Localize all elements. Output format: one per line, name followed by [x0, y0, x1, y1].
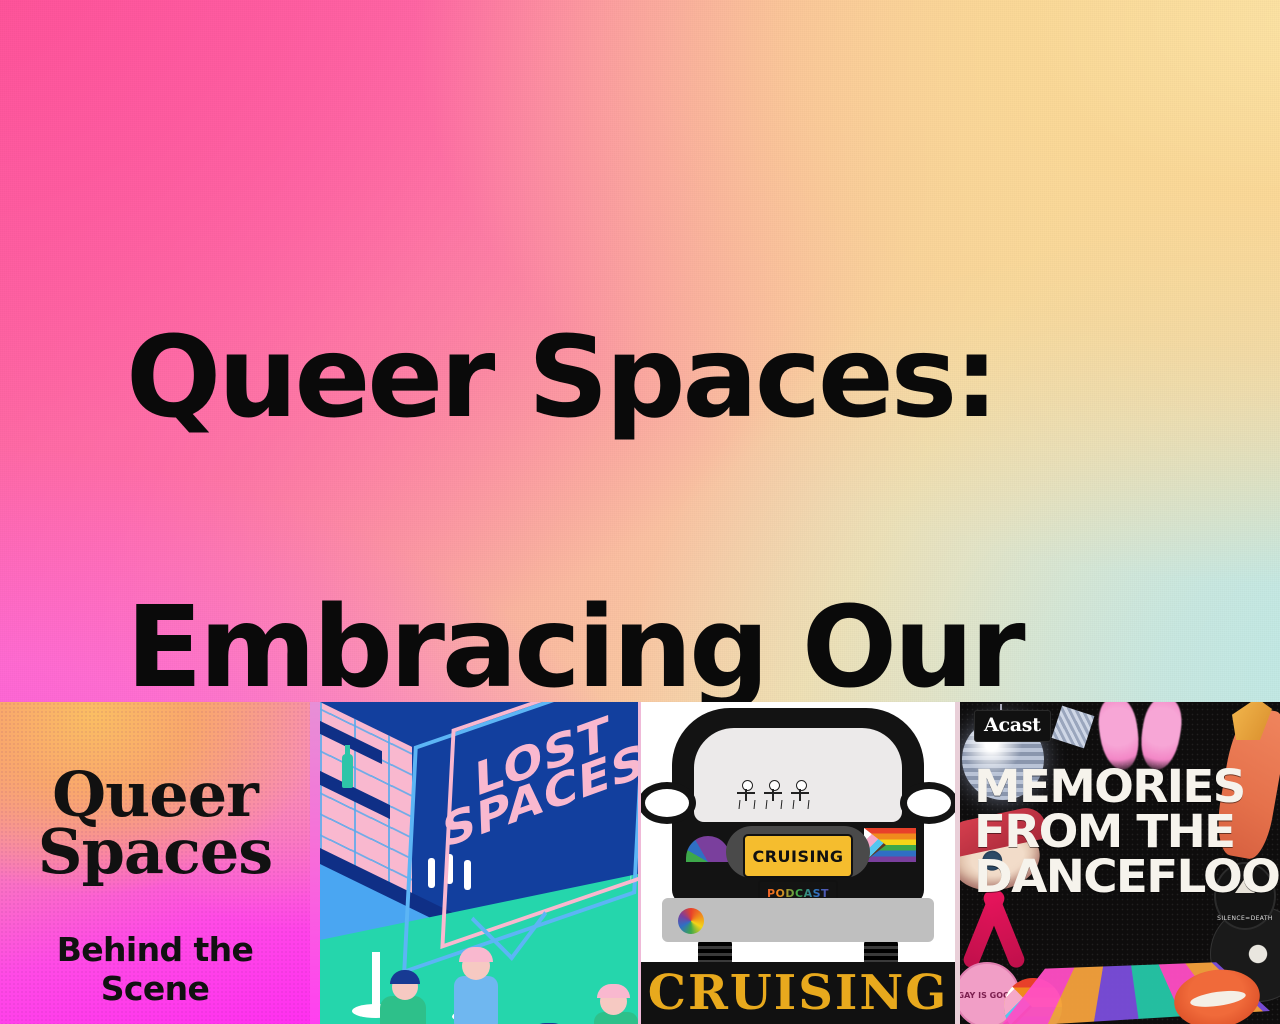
bar-stool-1	[372, 952, 380, 1010]
progress-pride-flag-sticker	[864, 828, 916, 862]
acast-badge: Acast	[974, 710, 1051, 742]
strip-gap-1	[310, 702, 320, 1024]
cover-title-line-1: MEMORIES	[974, 764, 1269, 809]
mirror-left-icon	[641, 782, 696, 824]
presentation-slide: Queer Spaces: Embracing Our Past, Presen…	[0, 0, 1280, 1024]
bumper	[662, 898, 934, 942]
title-line-1: Queer Spaces:	[126, 311, 1186, 446]
rainbow-arch-sticker	[686, 836, 730, 862]
cover-title-memories: MEMORIES FROM THE DANCEFLOOR	[974, 764, 1258, 899]
van-illustration: CRUISING PODCAST	[672, 708, 924, 904]
cover-subtitle: Behind the Scene	[0, 930, 310, 1008]
cover-banner-cruising: CRUISING	[641, 962, 955, 1024]
bumper-rainbow-sticker	[678, 908, 704, 934]
cover-title-line-2: FROM THE	[974, 809, 1269, 854]
podcast-cover-cruising[interactable]: CRUISING PODCAST CRUISING	[641, 702, 955, 1024]
podcast-cover-lost-spaces[interactable]: LOST SPACES	[320, 702, 638, 1024]
license-plate: CRUISING	[743, 834, 853, 878]
podcast-cover-memories-from-the-dancefloor[interactable]: Acast MEMORIES FROM THE DANCEFLOOR SILEN…	[960, 702, 1280, 1024]
cover-title-queer-spaces: Queer Spaces	[0, 766, 310, 880]
podcast-cover-queer-spaces[interactable]: Queer Spaces Behind the Scene	[0, 702, 310, 1024]
mirror-right-icon	[900, 782, 955, 824]
cover-title-line-3: DANCEFLOOR	[974, 854, 1269, 899]
cover-banner-text: CRUISING	[648, 965, 948, 1021]
bottle-icon	[342, 754, 353, 788]
stick-family-decal	[730, 776, 816, 810]
podcast-cover-strip: Queer Spaces Behind the Scene LOST SPACE…	[0, 702, 1280, 1024]
cover-title-line-2: Spaces	[0, 823, 310, 880]
